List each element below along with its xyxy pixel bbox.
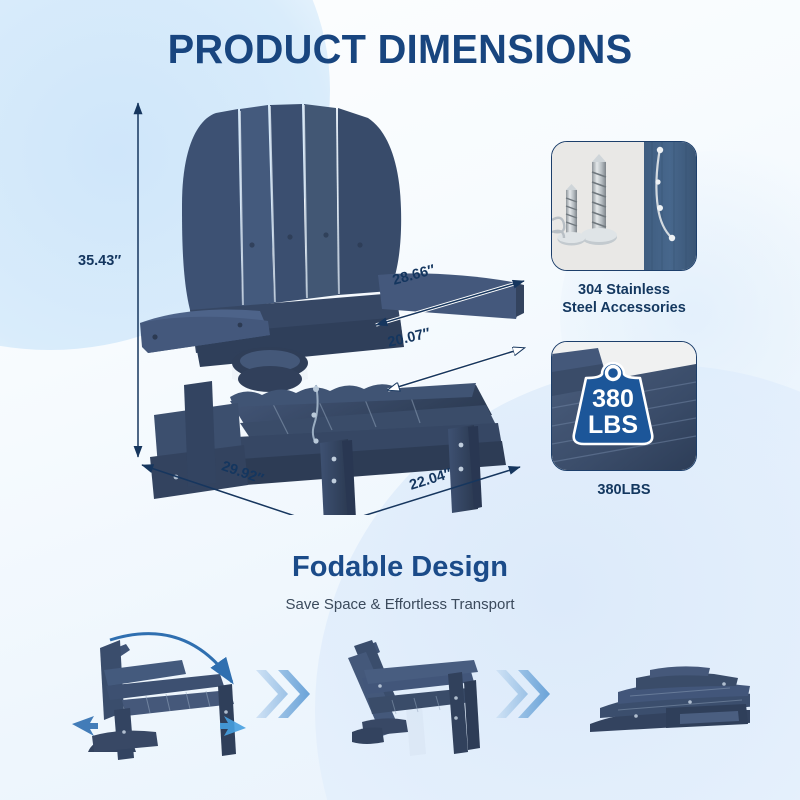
weight-capacity-icon: 380 LBS	[552, 342, 696, 470]
adirondack-chair-graphic	[140, 104, 524, 515]
product-dimension-illustration	[120, 85, 540, 515]
caption-line-1: 380LBS	[514, 481, 734, 499]
fold-step-2	[348, 640, 480, 756]
caption-line-1: 304 Stainless	[514, 281, 734, 299]
fold-push-arrow-left	[72, 716, 98, 736]
sequence-separator-1	[256, 670, 310, 718]
feature-card-weight-capacity: 380 LBS	[551, 341, 697, 471]
foldable-section-title: Fodable Design	[0, 551, 800, 584]
infographic-canvas: PRODUCT DIMENSIONS	[0, 0, 800, 800]
sequence-separator-2	[496, 670, 550, 718]
feature-card-stainless-accessories	[551, 141, 697, 271]
chair-back-slats	[182, 104, 401, 317]
screws-and-chain-icon	[552, 142, 696, 270]
page-title: PRODUCT DIMENSIONS	[12, 26, 788, 73]
weight-badge-number: 380	[592, 385, 634, 413]
feature-card-caption-weight: 380LBS	[514, 481, 734, 499]
folding-sequence	[70, 612, 750, 762]
foldable-section-subtitle: Save Space & Effortless Transport	[0, 596, 800, 613]
fold-step-1	[72, 634, 246, 760]
weight-badge-unit: LBS	[588, 411, 638, 439]
dimension-label-height: 35.43″	[78, 253, 121, 269]
feature-card-caption-stainless: 304 Stainless Steel Accessories	[514, 281, 734, 317]
fold-step-3	[590, 666, 750, 732]
caption-line-2: Steel Accessories	[514, 299, 734, 317]
